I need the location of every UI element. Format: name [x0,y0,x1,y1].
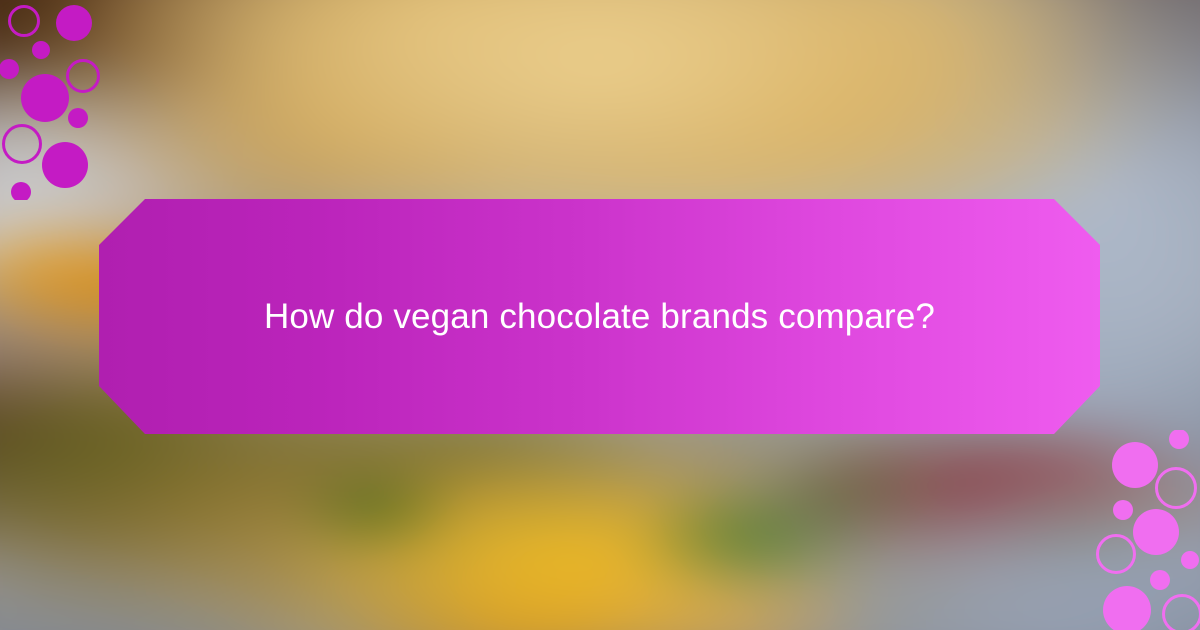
banner-card: How do vegan chocolate brands compare? [0,0,1200,630]
page-title: How do vegan chocolate brands compare? [224,295,975,339]
title-banner: How do vegan chocolate brands compare? [99,199,1100,434]
